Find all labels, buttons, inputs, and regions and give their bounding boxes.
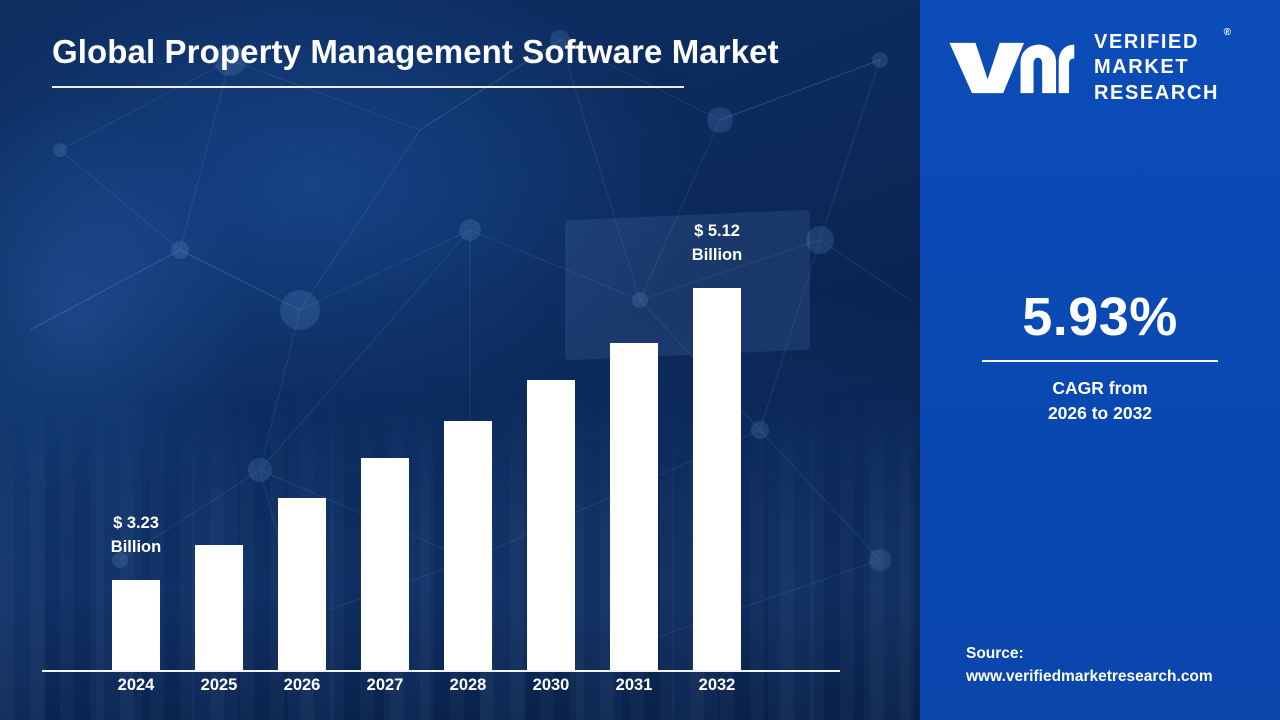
summary-panel: VERIFIED® MARKET RESEARCH 5.93% CAGR fro… [920, 0, 1280, 720]
bar-value-unit-2024: Billion [111, 538, 161, 556]
x-tick-2026: 2026 [257, 676, 347, 695]
title-block: Global Property Management Software Mark… [52, 30, 852, 88]
bar-value-label-2032: $ 5.12 Billion [647, 220, 787, 268]
x-tick-2027: 2027 [340, 676, 430, 695]
bar-chart: $ 3.23 Billion $ 5.12 Billion 2024 2025 … [40, 170, 840, 670]
cagr-caption: CAGR from 2026 to 2032 [920, 376, 1280, 427]
x-axis-line [42, 670, 840, 672]
bar-2025 [195, 545, 243, 670]
bar-2026 [278, 498, 326, 670]
cagr-divider [982, 360, 1218, 362]
registered-mark-icon: ® [1224, 27, 1231, 40]
cagr-caption-line-2: 2026 to 2032 [1048, 403, 1152, 423]
source-block: Source: www.verifiedmarketresearch.com [966, 642, 1213, 689]
x-tick-2030: 2030 [506, 676, 596, 695]
brand-line-1: VERIFIED [1094, 31, 1199, 53]
brand-line-2: MARKET [1094, 56, 1189, 78]
cagr-value: 5.93% [920, 290, 1280, 344]
bar-value-amount-2024: $ 3.23 [113, 514, 159, 532]
bar-2032 [693, 288, 741, 670]
bar-series: $ 3.23 Billion $ 5.12 Billion [40, 170, 840, 670]
x-tick-2031: 2031 [589, 676, 679, 695]
x-axis-tick-labels: 2024 2025 2026 2027 2028 2030 2031 2032 [40, 676, 840, 706]
brand-line-3: RESEARCH [1094, 82, 1219, 104]
title-underline [52, 86, 684, 88]
source-url[interactable]: www.verifiedmarketresearch.com [966, 668, 1213, 685]
bar-2028 [444, 421, 492, 670]
bar-value-unit-2032: Billion [692, 246, 742, 264]
chart-panel: Global Property Management Software Mark… [0, 0, 920, 720]
bar-2024 [112, 580, 160, 670]
infographic-page: Global Property Management Software Mark… [0, 0, 1280, 720]
vmr-monogram-icon [946, 37, 1076, 99]
brand-wordmark: VERIFIED® MARKET RESEARCH [1094, 30, 1219, 106]
bar-2030 [527, 380, 575, 670]
bar-2027 [361, 458, 409, 670]
x-tick-2028: 2028 [423, 676, 513, 695]
x-tick-2025: 2025 [174, 676, 264, 695]
bar-value-amount-2032: $ 5.12 [694, 222, 740, 240]
plot-area: $ 3.23 Billion $ 5.12 Billion [40, 170, 840, 670]
x-tick-2032: 2032 [672, 676, 762, 695]
x-tick-2024: 2024 [91, 676, 181, 695]
page-title: Global Property Management Software Mark… [52, 30, 852, 74]
source-label: Source: [966, 645, 1024, 662]
cagr-caption-line-1: CAGR from [1052, 378, 1147, 398]
brand-logo: VERIFIED® MARKET RESEARCH [946, 30, 1219, 106]
bar-value-label-2024: $ 3.23 Billion [66, 512, 206, 560]
cagr-block: 5.93% CAGR from 2026 to 2032 [920, 290, 1280, 427]
bar-2031 [610, 343, 658, 670]
